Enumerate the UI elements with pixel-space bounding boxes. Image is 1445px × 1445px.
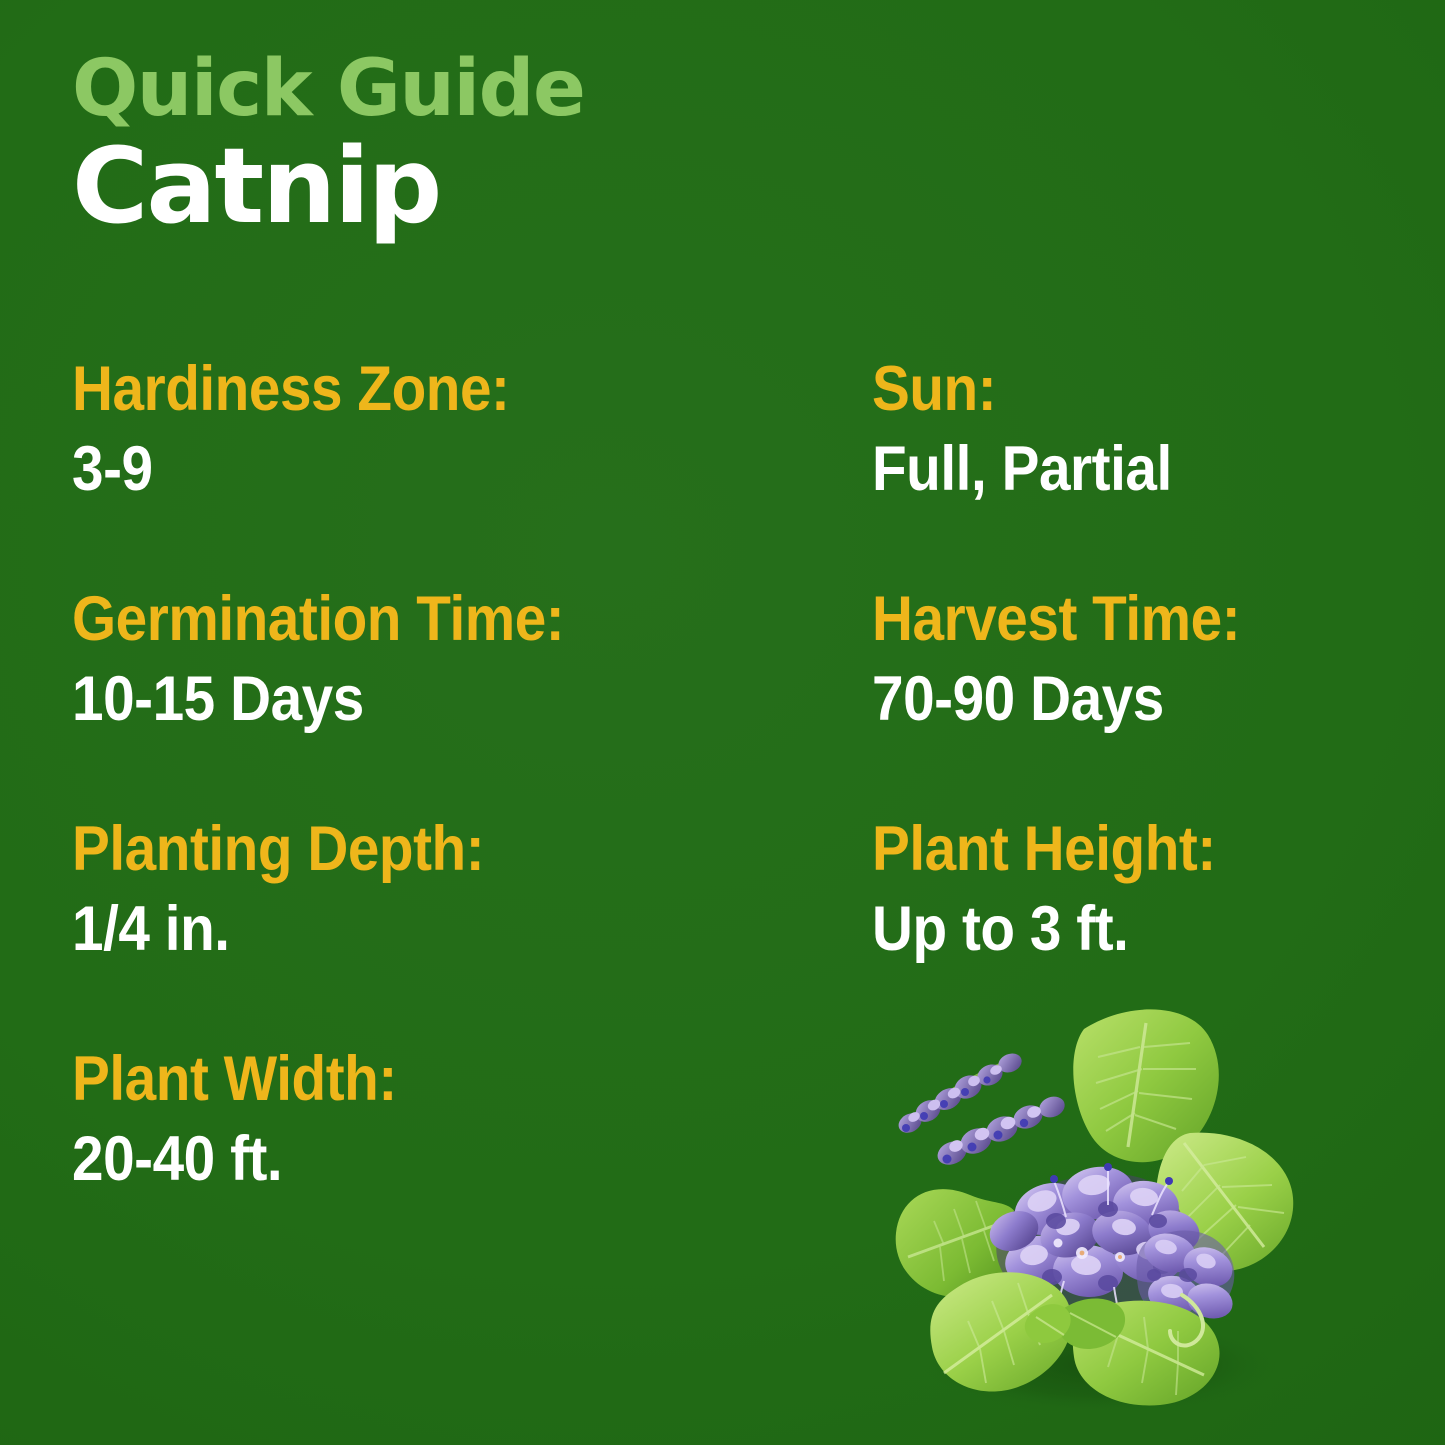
spec-sun: Sun: Full, Partial bbox=[872, 358, 1392, 588]
spec-value: 3-9 bbox=[72, 438, 792, 501]
catnip-plant-image bbox=[852, 995, 1304, 1425]
spec-germination-time: Germination Time: 10-15 Days bbox=[72, 588, 872, 818]
spec-label: Planting Depth: bbox=[72, 818, 792, 881]
spec-value: 70-90 Days bbox=[872, 668, 1340, 731]
spec-plant-width: Plant Width: 20-40 ft. bbox=[72, 1048, 872, 1278]
spec-label: Hardiness Zone: bbox=[72, 358, 792, 421]
quick-guide-card: Quick Guide Catnip Hardiness Zone: 3-9 S… bbox=[0, 0, 1445, 1445]
spec-value: 10-15 Days bbox=[72, 668, 792, 731]
spec-value: Up to 3 ft. bbox=[872, 898, 1340, 961]
spec-value: Full, Partial bbox=[872, 438, 1340, 501]
page-title: Catnip bbox=[72, 133, 852, 239]
spec-hardiness-zone: Hardiness Zone: 3-9 bbox=[72, 358, 872, 588]
header: Quick Guide Catnip bbox=[72, 52, 852, 239]
spec-label: Germination Time: bbox=[72, 588, 792, 651]
quick-guide-kicker: Quick Guide bbox=[72, 52, 852, 127]
spec-planting-depth: Planting Depth: 1/4 in. bbox=[72, 818, 872, 1048]
spec-label: Harvest Time: bbox=[872, 588, 1340, 651]
spec-harvest-time: Harvest Time: 70-90 Days bbox=[872, 588, 1392, 818]
spec-value: 1/4 in. bbox=[72, 898, 792, 961]
spec-value: 20-40 ft. bbox=[72, 1128, 792, 1191]
spec-label: Plant Width: bbox=[72, 1048, 792, 1111]
spec-label: Plant Height: bbox=[872, 818, 1340, 881]
spec-label: Sun: bbox=[872, 358, 1340, 421]
